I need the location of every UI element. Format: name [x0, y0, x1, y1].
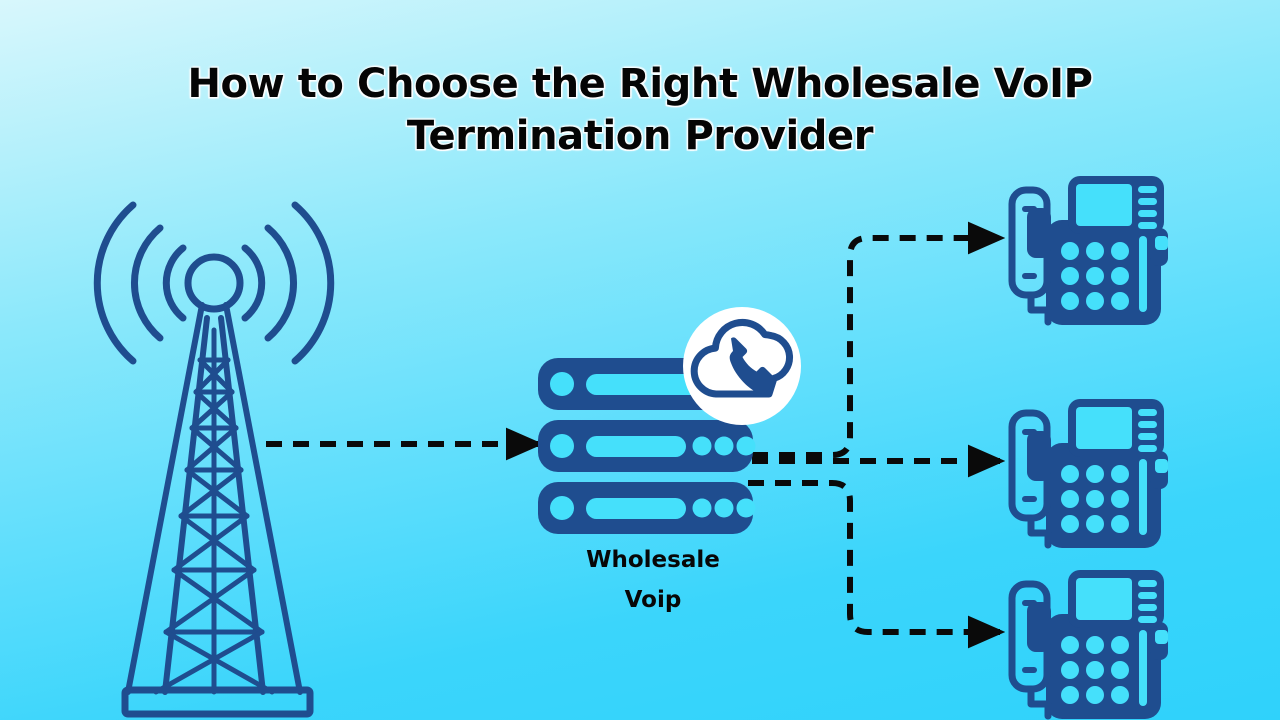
tower-base-plate	[125, 690, 310, 714]
server-rack-unit-3	[538, 482, 756, 534]
signal-arcs-left	[97, 205, 183, 361]
desk-phone-bottom	[1012, 570, 1168, 719]
desk-phone-keypad	[1061, 636, 1129, 704]
desk-phone-icon	[1012, 570, 1168, 719]
signal-arcs-right	[245, 205, 331, 361]
diagram-artwork	[0, 0, 1280, 720]
cell-tower-icon	[97, 205, 330, 714]
desk-phone-icon	[1012, 399, 1168, 548]
connector-server-to-phone-bottom	[748, 483, 1000, 632]
desk-phone-keypad	[1061, 242, 1129, 310]
server-rack-unit-2	[538, 420, 756, 472]
desk-phone-top	[1012, 176, 1168, 325]
tower-antenna-head	[188, 257, 240, 309]
desk-phone-middle	[1012, 399, 1168, 548]
desk-phone-icon	[1012, 176, 1168, 325]
cloud-phone-badge	[683, 307, 801, 425]
infographic-canvas: How to Choose the Right Wholesale VoIP T…	[0, 0, 1280, 720]
desk-phone-keypad	[1061, 465, 1129, 533]
